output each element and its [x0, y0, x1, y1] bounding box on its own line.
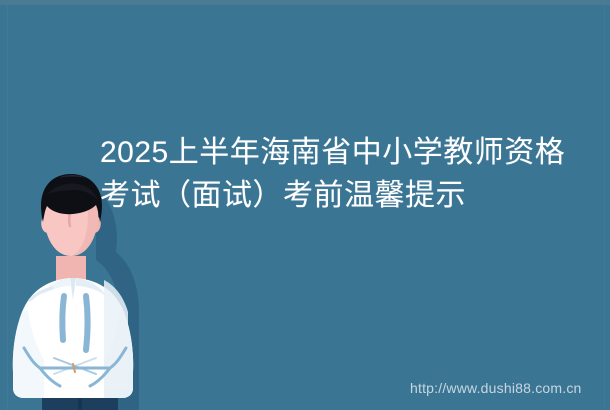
- top-edge-band: [0, 0, 610, 5]
- watermark-url: http://www.dushi88.com.cn: [410, 380, 582, 396]
- page-title: 2025上半年海南省中小学教师资格考试（面试）考前温馨提示: [100, 131, 570, 217]
- right-edge-seam: [604, 0, 605, 410]
- hoodie: [13, 278, 133, 398]
- image-canvas: 2025上半年海南省中小学教师资格考试（面试）考前温馨提示 http://www…: [0, 0, 610, 410]
